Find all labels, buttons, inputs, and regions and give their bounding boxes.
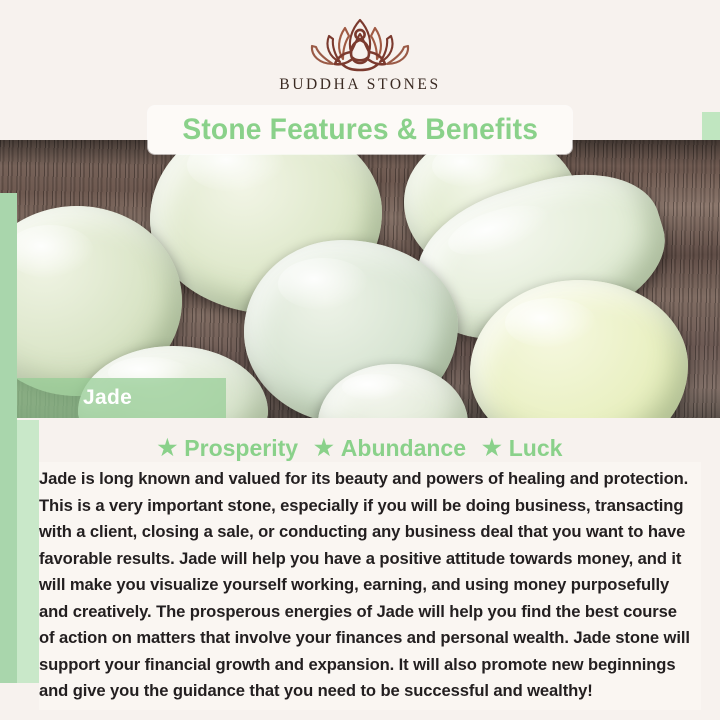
lotus-meditation-icon: [285, 12, 435, 74]
stone-name-band: Jade: [17, 378, 226, 418]
keyword-luck: ★ Luck: [482, 435, 562, 462]
title-banner: Stone Features & Benefits: [148, 106, 572, 154]
stone-photo: [0, 140, 720, 418]
star-icon: ★: [482, 437, 502, 459]
keyword-label: Abundance: [341, 435, 466, 462]
keyword-label: Luck: [509, 435, 563, 462]
brand-logo: BUDDHA STONES: [0, 12, 720, 94]
keyword-prosperity: ★ Prosperity: [158, 435, 299, 462]
stone-features-infographic: BUDDHA STONES Stone Features & Benefits …: [0, 0, 720, 720]
decor-frame-left-bar: [0, 193, 17, 683]
description-panel: ★ Prosperity ★ Abundance ★ Luck Jade is …: [0, 418, 720, 720]
keyword-label: Prosperity: [184, 435, 298, 462]
brand-name: BUDDHA STONES: [279, 76, 440, 94]
stone-name-label: Jade: [83, 386, 132, 410]
keyword-abundance: ★ Abundance: [314, 435, 466, 462]
star-icon: ★: [314, 437, 334, 459]
header: BUDDHA STONES: [0, 0, 720, 112]
keyword-row: ★ Prosperity ★ Abundance ★ Luck: [0, 418, 720, 465]
description-textbox: Jade is long known and valued for its be…: [39, 462, 701, 710]
decor-frame-left-inner: [17, 420, 39, 683]
description-paragraph: Jade is long known and valued for its be…: [39, 462, 701, 705]
star-icon: ★: [158, 437, 178, 459]
page-title: Stone Features & Benefits: [182, 113, 538, 147]
